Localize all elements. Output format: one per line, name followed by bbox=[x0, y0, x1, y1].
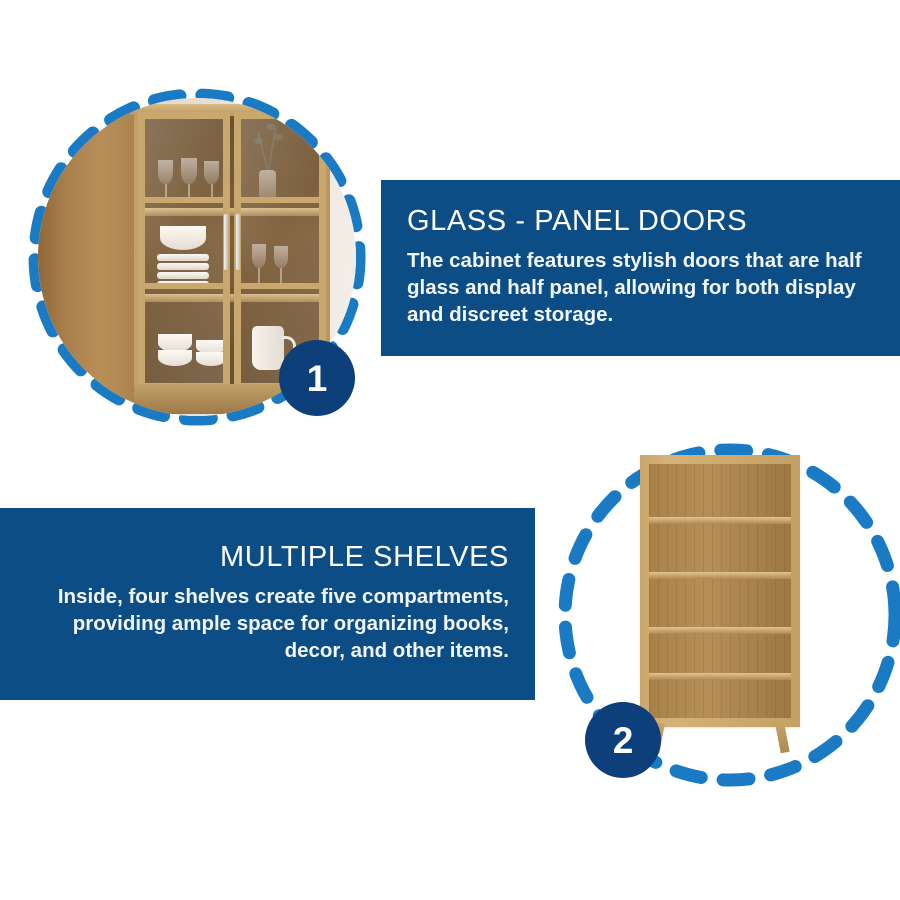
feature-title-1: GLASS - PANEL DOORS bbox=[407, 206, 747, 236]
bookcase-frame bbox=[640, 455, 800, 727]
step-badge-2: 2 bbox=[585, 702, 661, 778]
feature-panel-2: MULTIPLE SHELVES Inside, four shelves cr… bbox=[0, 508, 535, 700]
bookcase-shelf bbox=[649, 627, 791, 634]
feature-body-2: Inside, four shelves create five compart… bbox=[22, 583, 509, 664]
feature-title-2: MULTIPLE SHELVES bbox=[220, 542, 509, 572]
bookcase-shelf bbox=[649, 673, 791, 680]
infographic-canvas: GLASS - PANEL DOORS The cabinet features… bbox=[0, 0, 900, 900]
feature-body-1: The cabinet features stylish doors that … bbox=[407, 247, 878, 328]
bookcase-shelf bbox=[649, 517, 791, 524]
door-handle bbox=[224, 214, 228, 270]
door-rail bbox=[241, 283, 319, 289]
door-rail bbox=[241, 197, 319, 203]
cabinet-side-panel bbox=[38, 102, 144, 416]
step-badge-number-1: 1 bbox=[307, 360, 328, 397]
feature-panel-1: GLASS - PANEL DOORS The cabinet features… bbox=[381, 180, 900, 356]
door-handle bbox=[236, 214, 240, 270]
door-rail bbox=[145, 283, 223, 289]
bookcase-shelf bbox=[649, 572, 791, 579]
step-badge-1: 1 bbox=[279, 340, 355, 416]
bookcase-photo bbox=[640, 455, 800, 755]
cabinet-door-left bbox=[138, 112, 230, 390]
step-badge-number-2: 2 bbox=[613, 722, 634, 759]
door-rail bbox=[145, 197, 223, 203]
